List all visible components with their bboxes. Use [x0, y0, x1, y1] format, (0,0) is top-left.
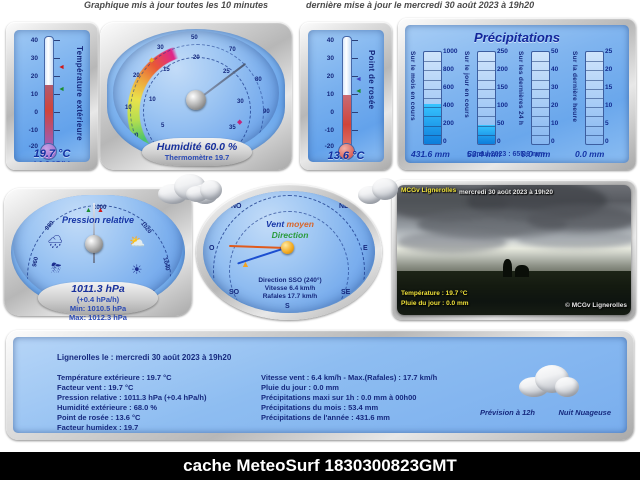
summary-right-4: Précipitations de l'année : 431.6 mm — [261, 413, 390, 422]
humidity-inner-tick-15: 15 — [163, 67, 170, 73]
webcam-tree-icon — [503, 259, 512, 277]
humidity-min-marker: ◆ — [149, 57, 154, 64]
humidity-tick-20: 20 — [133, 73, 140, 79]
temp-tick-40: 40 — [18, 37, 38, 44]
precip-tick-h-40: 40 — [551, 66, 558, 73]
humidity-inner-tick-35: 35 — [229, 125, 236, 131]
precip-bar-month — [423, 51, 442, 145]
precip-tick-hr-15: 15 — [605, 84, 612, 91]
humidity-inner-tick-5: 5 — [161, 123, 164, 129]
temperature-tube — [44, 36, 54, 150]
precip-label-month: Sur le mois en cours — [409, 51, 416, 139]
wind-speed: Vitesse 6.4 km/h — [227, 285, 353, 293]
precip-bar-hour — [585, 51, 604, 145]
humidity-readout: Humidité 60.0 % Thermomètre 19.7 — [142, 138, 252, 166]
forecast-value: Nuit Nuageuse — [558, 408, 611, 417]
precip-tick-m-0: 0 — [443, 138, 447, 145]
humidity-sublabel: Thermomètre 19.7 — [142, 153, 252, 162]
footer-bar: cache MeteoSurf 1830300823GMT — [0, 452, 640, 480]
temp-tick-20: 20 — [18, 73, 38, 80]
temp-tick-10: 10 — [18, 91, 38, 98]
pressure-value: 1011.3 hPa — [38, 282, 158, 295]
compass-o: O — [209, 245, 214, 252]
summary-left-1: Facteur vent : 19.7 °C — [57, 383, 133, 392]
summary-left-2: Pression relative : 1011.3 hPa (+0.4 hPa… — [57, 393, 206, 402]
summary-right-2: Précipitations maxi sur 1h : 0.0 mm à 00… — [261, 393, 416, 402]
pressure-gauge-panel[interactable]: 1000 980 1020 960 1040 960 1050 🌧 ⛈ ⛅ ☀ … — [4, 188, 192, 316]
footer-cache-label: cache — [183, 456, 231, 476]
humidity-gauge-panel[interactable]: 50 30 70 20 80 10 90 0 100 20 15 25 10 3… — [100, 22, 292, 170]
precip-tick-m-600: 600 — [443, 84, 454, 91]
outdoor-temp-trend: (-1.0 °C/h) — [14, 160, 90, 162]
precip-tick-h-50: 50 — [551, 48, 558, 55]
webcam-sky — [397, 185, 631, 273]
dew-tick-m10: -10 — [314, 127, 334, 134]
dew-tick-10: 10 — [314, 91, 334, 98]
webcam-copyright: © MCGv Lignerolles — [565, 302, 627, 309]
temp-tick-m10: -10 — [18, 127, 38, 134]
wind-title-direction: Direction — [272, 230, 309, 240]
pressure-title: Pression relative — [55, 215, 141, 226]
last-update-note: dernière mise à jour le mercredi 30 août… — [306, 0, 534, 10]
dew-tick-0: 0 — [314, 109, 334, 116]
precip-tick-h-0: 0 — [551, 138, 555, 145]
humidity-max-marker: ◆ — [237, 119, 242, 126]
sun-cloud-icon: ⛅ — [129, 235, 145, 248]
dew-tube — [342, 36, 352, 150]
outdoor-temp-title: Température extérieure — [75, 46, 84, 146]
precip-tick-d-50: 50 — [497, 120, 504, 127]
precip-tick-d-200: 200 — [497, 66, 508, 73]
cloud-decoration-small — [186, 180, 226, 204]
humidity-inner-tick-30: 30 — [237, 99, 244, 105]
wind-readout: Direction SSO (240°) Vitesse 6.4 km/h Ra… — [227, 277, 353, 301]
compass-s: S — [285, 303, 290, 310]
precip-tick-m-200: 200 — [443, 120, 454, 127]
forecast-label: Prévision à 12h — [480, 408, 535, 417]
summary-right-0: Vitesse vent : 6.4 km/h - Max.(Rafales) … — [261, 373, 437, 382]
wind-compass-panel[interactable]: N NE E SE S SO O NO Vent moyen Direction… — [196, 184, 382, 320]
webcam-rain-line: Pluie du jour : 0.0 mm — [401, 300, 469, 307]
precip-cumul: Cumul 2023 : 655.6 mm — [467, 151, 544, 158]
precip-tick-hr-0: 0 — [605, 138, 609, 145]
humidity-tick-0: 0 — [135, 133, 138, 139]
dew-max-marker: ◄ — [355, 76, 362, 83]
pressure-min: Min: 1010.5 hPa — [38, 304, 158, 313]
precip-tick-hr-20: 20 — [605, 66, 612, 73]
precip-tick-d-250: 250 — [497, 48, 508, 55]
wind-title-moyen: moyen — [287, 219, 314, 229]
precip-tick-h-30: 30 — [551, 84, 558, 91]
compass-n: N — [285, 191, 290, 192]
footer-timestamp: 1830300823GMT — [325, 456, 457, 476]
humidity-dial: 50 30 70 20 80 10 90 0 100 20 15 25 10 3… — [113, 31, 279, 155]
dew-point-panel[interactable]: Point de rosée 40 30 20 10 0 -10 -20 ◄ ◄… — [300, 22, 392, 170]
wind-dial: N NE E SE S SO O NO Vent moyen Direction… — [203, 191, 375, 313]
humidity-tick-100: 100 — [255, 137, 265, 143]
dew-tick-30: 30 — [314, 55, 334, 62]
dew-point-value: 13.6 °C — [308, 150, 384, 162]
summary-panel[interactable]: Lignerolles le : mercredi 30 août 2023 à… — [6, 330, 634, 440]
temp-min-marker: ◄ — [58, 86, 65, 93]
update-interval-note: Graphique mis à jour toutes les 10 minut… — [84, 0, 268, 10]
precip-bar-day — [477, 51, 496, 145]
pressure-needle — [93, 203, 95, 263]
pressure-readout: 1011.3 hPa (+0.4 hPa/h) Min: 1010.5 hPa … — [38, 282, 158, 314]
footer-site-name: MeteoSurf — [236, 456, 319, 476]
storm-icon: ⛈ — [51, 261, 61, 274]
compass-no: NO — [231, 203, 242, 210]
rain-icon: 🌧 — [47, 235, 64, 248]
dew-thermometer-face: Point de rosée 40 30 20 10 0 -10 -20 ◄ ◄… — [308, 30, 384, 162]
humidity-tick-50: 50 — [191, 35, 198, 41]
precip-tick-d-0: 0 — [497, 138, 501, 145]
summary-left-4: Point de rosée : 13.6 °C — [57, 413, 140, 422]
summary-right-1: Pluie du jour : 0.0 mm — [261, 383, 339, 392]
temperature-mercury — [45, 85, 53, 149]
precip-column-24h: Sur les dernières 24 h 50 40 30 20 10 0 … — [517, 47, 571, 155]
summary-station-line: Lignerolles le : mercredi 30 août 2023 à… — [57, 353, 231, 362]
webcam-bush-icon — [515, 265, 529, 277]
precip-tick-hr-25: 25 — [605, 48, 612, 55]
summary-left-0: Température extérieure : 19.7 °C — [57, 373, 172, 382]
precip-tick-m-800: 800 — [443, 66, 454, 73]
humidity-inner-tick-20: 20 — [193, 55, 200, 61]
summary-left-5: Facteur humidex : 19.7 — [57, 423, 138, 432]
precip-tick-h-10: 10 — [551, 120, 558, 127]
humidity-hub — [186, 90, 206, 110]
precipitation-title: Précipitations — [405, 30, 629, 45]
temp-max-marker: ◄ — [58, 64, 65, 71]
wind-hub — [281, 241, 294, 254]
sun-icon: ☀ — [131, 263, 143, 276]
cloud-decoration-right — [356, 176, 410, 206]
precip-value-hour: 0.0 mm — [575, 149, 604, 159]
precip-tick-m-400: 400 — [443, 102, 454, 109]
outdoor-temperature-panel[interactable]: Température extérieure 40 30 20 10 0 -10… — [6, 22, 98, 170]
dew-tick-40: 40 — [314, 37, 334, 44]
precip-column-day: Sur le jour en cours 250 200 150 100 50 … — [463, 47, 517, 155]
wind-marker: ▲ — [241, 261, 250, 268]
outdoor-temp-value: 19.7 °C — [14, 148, 90, 160]
summary-left-3: Humidité extérieure : 68.0 % — [57, 403, 157, 412]
humidity-tick-90: 90 — [263, 109, 270, 115]
dew-mercury — [343, 95, 351, 149]
precip-label-day: Sur le jour en cours — [463, 51, 470, 139]
precip-tick-hr-10: 10 — [605, 102, 612, 109]
webcam-temp-line: Température : 19.7 °C — [401, 290, 467, 297]
weather-dashboard: Graphique mis à jour toutes les 10 minut… — [0, 0, 640, 480]
wind-title-vent: Vent — [266, 219, 284, 229]
humidity-tick-70: 70 — [229, 47, 236, 53]
dew-min-marker: ◄ — [355, 88, 362, 95]
dew-tick-m20: -20 — [312, 143, 334, 150]
precip-tick-hr-5: 5 — [605, 120, 609, 127]
pressure-max-marker: ▲ — [97, 207, 104, 214]
summary-right-3: Précipitations du mois : 53.4 mm — [261, 403, 378, 412]
webcam-panel[interactable]: MCGv Lignerolles mercredi 30 août 2023 à… — [392, 180, 636, 320]
precip-column-hour: Sur la dernière heure 25 20 15 10 5 0 0.… — [571, 47, 627, 155]
dew-tick-20: 20 — [314, 73, 334, 80]
humidity-tick-30: 30 — [157, 45, 164, 51]
precip-label-24h: Sur les dernières 24 h — [517, 51, 524, 139]
wind-direction: Direction SSO (240°) — [227, 277, 353, 285]
precip-tick-d-150: 150 — [497, 84, 508, 91]
compass-e: E — [363, 245, 368, 252]
precipitation-panel[interactable]: Précipitations Sur le mois en cours 1000… — [398, 18, 636, 170]
precip-column-month: Sur le mois en cours 1000 800 600 400 20… — [409, 47, 463, 155]
compass-ne: NE — [339, 203, 349, 210]
wind-title-group: Vent moyen Direction — [243, 219, 337, 241]
pressure-hub — [85, 235, 103, 253]
humidity-inner-tick-10: 10 — [149, 97, 156, 103]
precip-tick-d-100: 100 — [497, 102, 508, 109]
precip-tick-m-1000: 1000 — [443, 48, 457, 55]
pressure-min-marker: ▲ — [85, 207, 92, 214]
dew-point-title: Point de rosée — [367, 50, 376, 142]
temp-tick-30: 30 — [18, 55, 38, 62]
pressure-trend: (+0.4 hPa/h) — [38, 295, 158, 304]
precip-fill-month — [424, 104, 441, 144]
webcam-timestamp: mercredi 30 août 2023 à 19h20 — [459, 189, 553, 196]
humidity-value: Humidité 60.0 % — [142, 138, 252, 153]
humidity-tick-80: 80 — [255, 77, 262, 83]
humidity-tick-10: 10 — [125, 105, 132, 111]
pressure-max: Max: 1012.3 hPa — [38, 313, 158, 322]
precip-tick-h-20: 20 — [551, 102, 558, 109]
forecast-cloud-icon — [515, 361, 581, 399]
wind-gust: Rafales 17.7 km/h — [227, 293, 353, 301]
temp-tick-0: 0 — [18, 109, 38, 116]
precip-label-hour: Sur la dernière heure — [571, 51, 578, 139]
thermometer-face: Température extérieure 40 30 20 10 0 -10… — [14, 30, 90, 162]
precip-bar-24h — [531, 51, 550, 145]
webcam-image[interactable]: MCGv Lignerolles mercredi 30 août 2023 à… — [397, 185, 631, 315]
precip-value-month: 431.6 mm — [411, 149, 450, 159]
